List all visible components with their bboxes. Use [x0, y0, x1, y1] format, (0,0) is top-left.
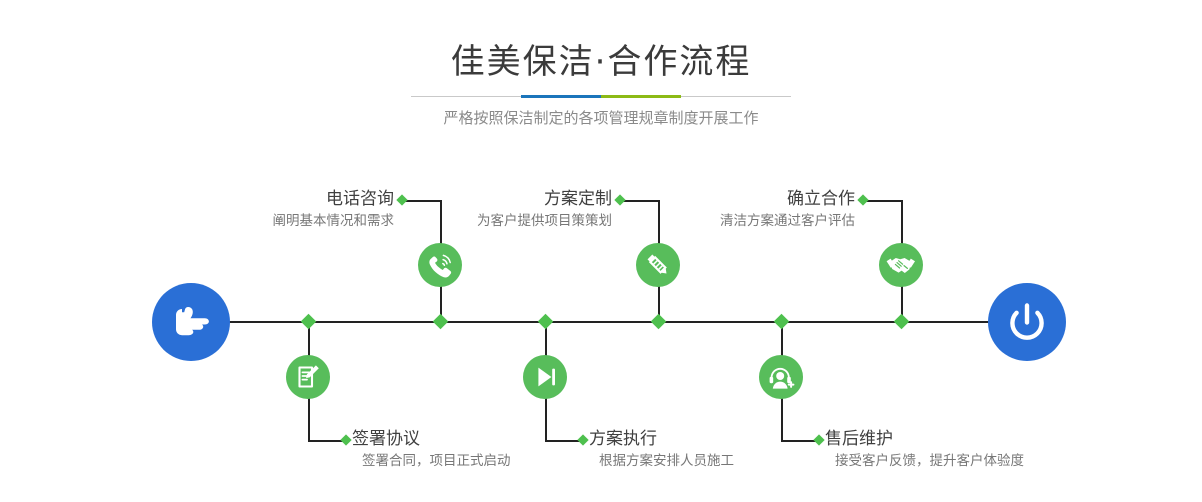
- axis-marker-step-2: [301, 314, 317, 330]
- label-marker-step-5: [857, 194, 868, 205]
- node-step-1[interactable]: [418, 243, 462, 287]
- sign-document-icon: [286, 355, 330, 399]
- node-step-5[interactable]: [879, 243, 923, 287]
- label-step-6: 售后维护 接受客户反馈，提升客户体验度: [825, 428, 1115, 472]
- label-step-5: 确立合作 清洁方案通过客户评估: [615, 188, 855, 232]
- node-step-2[interactable]: [286, 355, 330, 399]
- axis-marker-step-1: [433, 314, 449, 330]
- node-step-6[interactable]: [759, 355, 803, 399]
- power-icon: [988, 283, 1066, 361]
- label-step-3-title: 方案定制: [372, 188, 612, 210]
- label-step-2-subtitle: 签署合同，项目正式启动: [352, 450, 612, 472]
- customer-service-icon: [759, 355, 803, 399]
- label-step-2: 签署协议 签署合同，项目正式启动: [352, 428, 612, 472]
- label-step-2-title: 签署协议: [352, 428, 612, 450]
- label-step-5-subtitle: 清洁方案通过客户评估: [615, 210, 855, 232]
- label-step-1-subtitle: 阐明基本情况和需求: [154, 210, 394, 232]
- label-step-4-title: 方案执行: [589, 428, 849, 450]
- node-step-3[interactable]: [636, 243, 680, 287]
- label-step-6-title: 售后维护: [825, 428, 1115, 450]
- play-execute-icon: [523, 355, 567, 399]
- handshake-icon: [879, 243, 923, 287]
- pencil-plan-icon: [636, 243, 680, 287]
- connector-step-5-horizontal: [865, 200, 902, 202]
- label-step-3-subtitle: 为客户提供项目策策划: [372, 210, 612, 232]
- timeline-end-node[interactable]: [988, 283, 1066, 361]
- label-step-4-subtitle: 根据方案安排人员施工: [589, 450, 849, 472]
- label-step-4: 方案执行 根据方案安排人员施工: [589, 428, 849, 472]
- process-timeline: 电话咨询 阐明基本情况和需求 签署协议 签署合同，项目正式启动: [0, 0, 1202, 502]
- axis-marker-step-3: [651, 314, 667, 330]
- axis-marker-step-6: [774, 314, 790, 330]
- phone-call-icon: [418, 243, 462, 287]
- infographic-page: 佳美保洁·合作流程 严格按照保洁制定的各项管理规章制度开展工作: [0, 0, 1202, 502]
- axis-marker-step-5: [894, 314, 910, 330]
- label-step-1-title: 电话咨询: [154, 188, 394, 210]
- label-step-1: 电话咨询 阐明基本情况和需求: [154, 188, 394, 232]
- label-step-3: 方案定制 为客户提供项目策策划: [372, 188, 612, 232]
- node-step-4[interactable]: [523, 355, 567, 399]
- label-marker-step-2: [340, 434, 351, 445]
- label-step-5-title: 确立合作: [615, 188, 855, 210]
- label-step-6-subtitle: 接受客户反馈，提升客户体验度: [825, 450, 1115, 472]
- axis-marker-step-4: [538, 314, 554, 330]
- timeline-start-node[interactable]: [152, 283, 230, 361]
- pointing-hand-icon: [152, 283, 230, 361]
